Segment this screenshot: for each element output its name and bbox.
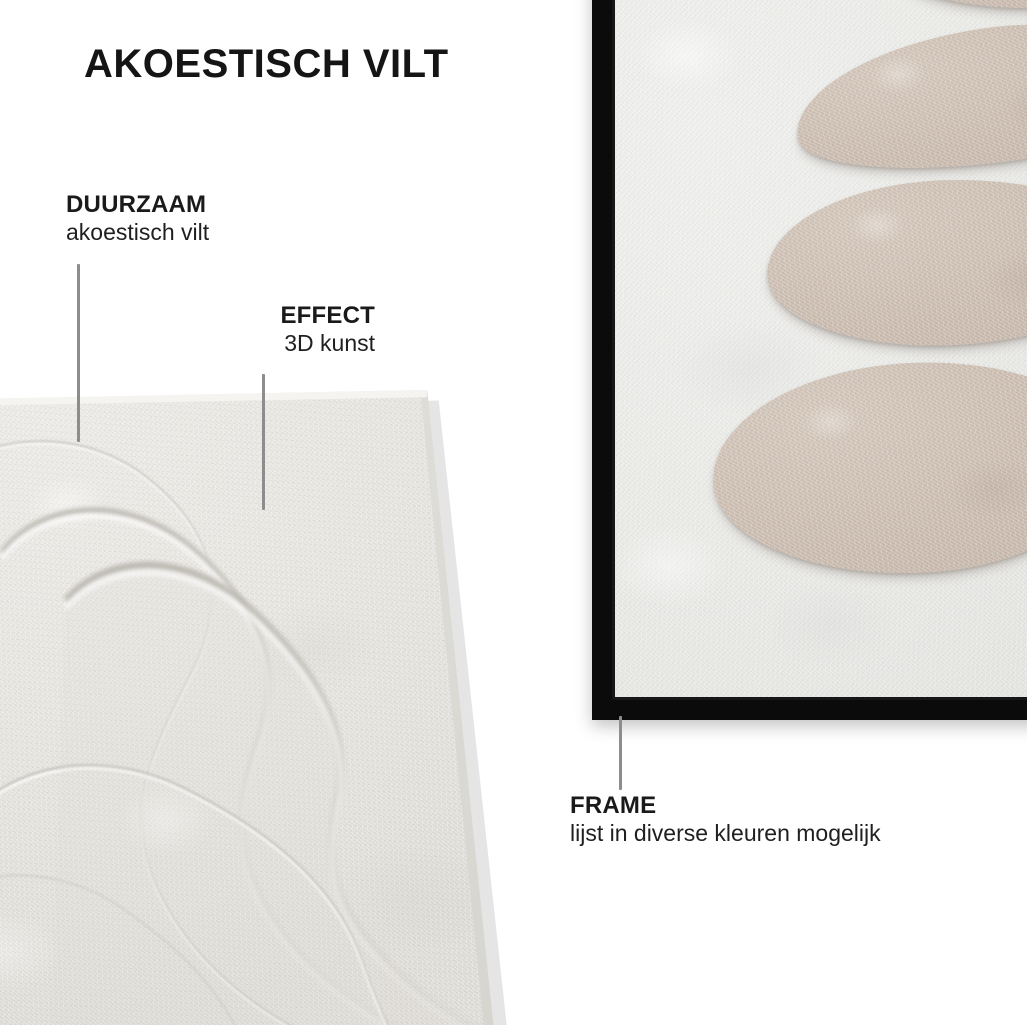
page-title: AKOESTISCH VILT	[84, 44, 449, 84]
callout-frame-title: FRAME	[570, 793, 881, 820]
callout-duurzaam-title: DUURZAAM	[66, 192, 209, 219]
callout-effect-title: EFFECT	[0, 303, 375, 330]
infographic-canvas: AKOESTISCH VILT DUURZAAM akoestisch vilt…	[0, 0, 1027, 1025]
callout-effect-subtitle: 3D kunst	[0, 330, 375, 357]
framed-artwork-photo	[592, 0, 1027, 720]
callout-duurzaam: DUURZAAM akoestisch vilt	[66, 192, 209, 246]
callout-effect: EFFECT 3D kunst	[0, 303, 375, 357]
artwork-felt-canvas	[615, 0, 1027, 697]
acoustic-felt-panel	[0, 384, 550, 1025]
leader-line-icon	[262, 374, 265, 510]
callout-frame: FRAME lijst in diverse kleuren mogelijk	[570, 793, 881, 847]
callout-duurzaam-subtitle: akoestisch vilt	[66, 219, 209, 246]
callout-frame-subtitle: lijst in diverse kleuren mogelijk	[570, 820, 881, 847]
leader-line-icon	[619, 716, 622, 790]
